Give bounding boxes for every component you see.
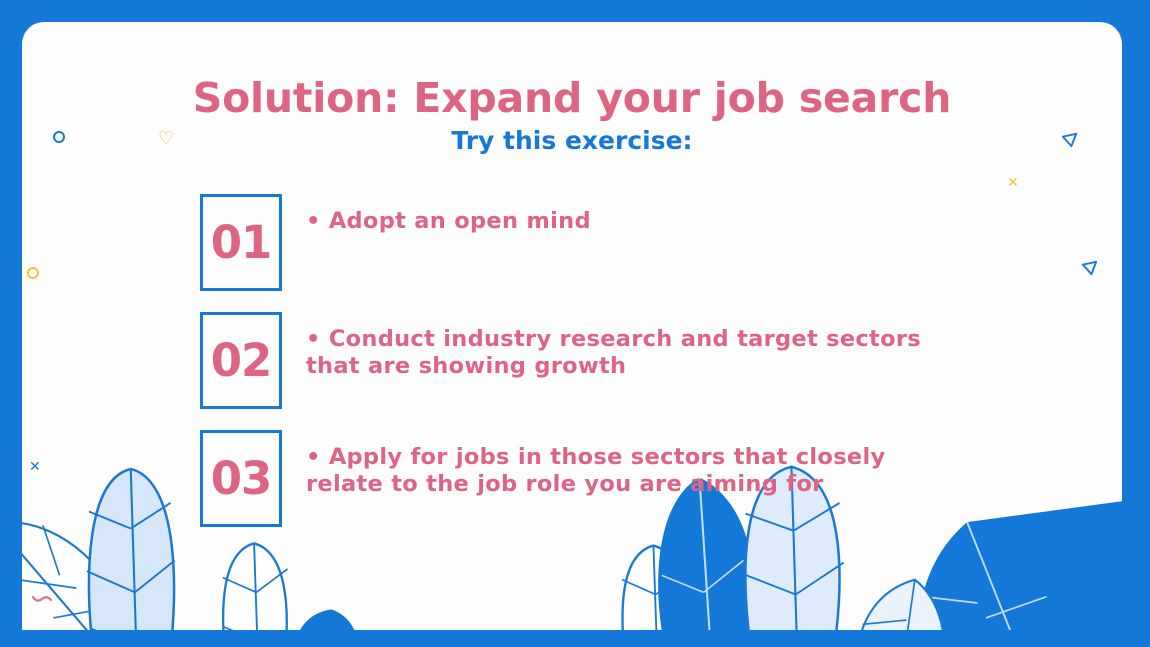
steps-list: 01 • Adopt an open mind 02 • Conduct ind… (200, 194, 1060, 548)
step-text-02: • Conduct industry research and target s… (282, 312, 1060, 381)
slide-subtitle: Try this exercise: (22, 126, 1122, 155)
step-number-03: 03 (211, 456, 272, 501)
circle-outline-blue (53, 131, 65, 143)
step-number-box-02: 02 (200, 312, 282, 409)
circle-outline-yellow (27, 267, 39, 279)
step-item-01: 01 • Adopt an open mind (200, 194, 1060, 291)
leaf-left-medium (223, 543, 288, 630)
cross-mark-yellow: ✕ (1007, 176, 1019, 190)
leaf-left-tall (87, 469, 175, 630)
step-number-02: 02 (211, 338, 272, 383)
step-number-box-01: 01 (200, 194, 282, 291)
triangle-outline-blue-top (1060, 130, 1079, 153)
leaf-left-small (22, 522, 128, 630)
leaf-left-solid (294, 609, 358, 630)
slide-panel: Solution: Expand your job search Try thi… (22, 22, 1122, 630)
squiggle-pink-left (32, 589, 52, 608)
step-number-box-03: 03 (200, 430, 282, 527)
step-text-03: • Apply for jobs in those sectors that c… (282, 430, 1060, 499)
triangle-outline-blue-lower (1080, 258, 1099, 281)
step-item-02: 02 • Conduct industry research and targe… (200, 312, 1060, 409)
slide-title: Solution: Expand your job search (22, 74, 1122, 122)
step-number-01: 01 (211, 220, 272, 265)
heart-outline-yellow: ♡ (158, 130, 174, 148)
step-item-03: 03 • Apply for jobs in those sectors tha… (200, 430, 1060, 527)
slide-canvas: Solution: Expand your job search Try thi… (0, 0, 1150, 647)
leaf-right-small-white (622, 546, 687, 630)
cross-mark-blue: ✕ (29, 460, 41, 474)
leaf-right-outline-pale (858, 580, 944, 630)
step-text-01: • Adopt an open mind (282, 194, 1060, 235)
